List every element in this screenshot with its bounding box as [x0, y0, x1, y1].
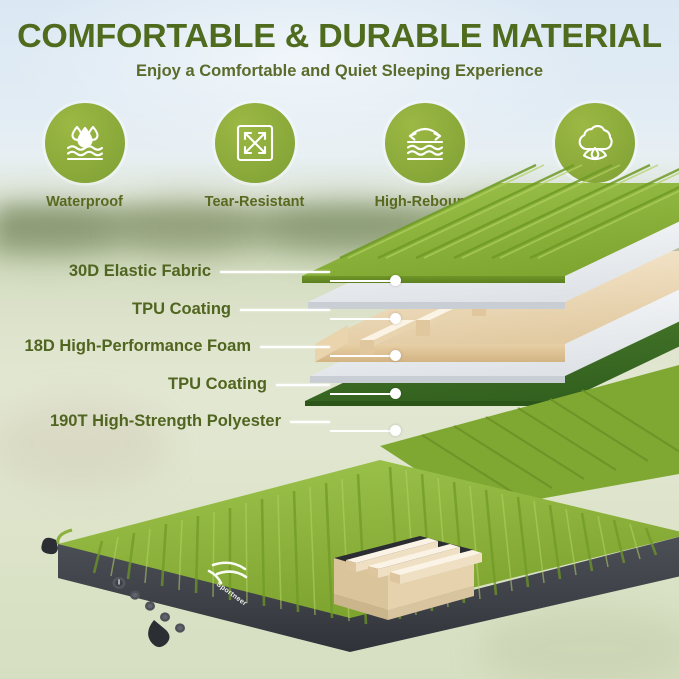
feature-high-rebound: High-Rebound: [366, 103, 484, 210]
feature-badge-circle: [555, 103, 635, 183]
leader-dot: [390, 275, 401, 286]
corner-strap: [41, 538, 58, 554]
page-subtitle: Enjoy a Comfortable and Quiet Sleeping E…: [0, 62, 679, 81]
feature-label: Waterproof: [26, 194, 144, 210]
leader-dot: [390, 425, 401, 436]
square-expand-arrows-icon: [229, 117, 281, 169]
feature-badge-circle: [215, 103, 295, 183]
feature-waterproof: Waterproof: [26, 103, 144, 210]
leader-dot: [390, 388, 401, 399]
leader-dot: [390, 313, 401, 324]
valve-button: [130, 590, 140, 599]
feature-badge-circle: [385, 103, 465, 183]
valve-button: [145, 601, 155, 610]
valve-button: [175, 623, 185, 632]
infographic-canvas: COMFORTABLE & DURABLE MATERIAL Enjoy a C…: [0, 0, 679, 679]
valve-controls: [108, 575, 218, 655]
pump-valve-icon: [113, 577, 126, 589]
water-drops-waves-icon: [59, 117, 111, 169]
valve-button: [160, 612, 170, 621]
feature-badge-circle: [45, 103, 125, 183]
feature-label: Tear-Resistant: [196, 194, 314, 210]
feature-tear-resistant: Tear-Resistant: [196, 103, 314, 210]
header: COMFORTABLE & DURABLE MATERIAL Enjoy a C…: [0, 0, 679, 81]
page-title: COMFORTABLE & DURABLE MATERIAL: [0, 17, 679, 55]
rebound-arch-waves-icon: [399, 117, 451, 169]
leader-dot: [390, 350, 401, 361]
cotton-cloud-icon: [569, 117, 621, 169]
